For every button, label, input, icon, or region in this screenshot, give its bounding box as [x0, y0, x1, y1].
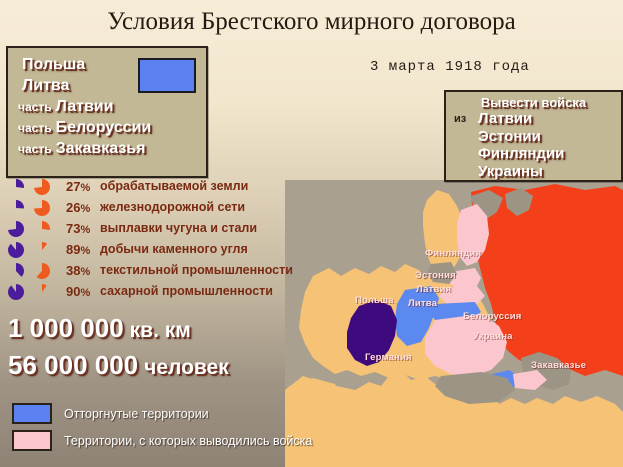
- loss-pie-pair: [8, 283, 60, 301]
- total-row: 56 000 000человек: [8, 349, 229, 386]
- loss-label: текстильной промышленности: [100, 260, 293, 281]
- ceded-row: Польша: [18, 54, 151, 75]
- withdraw-country: Латвии: [478, 110, 564, 128]
- percent-sign: %: [80, 266, 90, 278]
- loss-percent-value: 90: [66, 284, 80, 299]
- map-landmass-svg: [285, 180, 623, 467]
- loss-percent-value: 26: [66, 200, 80, 215]
- loss-row: 38% текстильной промышленности: [0, 260, 295, 281]
- loss-row: 26% железнодорожной сети: [0, 197, 295, 218]
- loss-row: 90% сахарной промышленности: [0, 281, 295, 302]
- legend-row: Территории, с которых выводились войска: [12, 427, 312, 454]
- treaty-date: 3 марта 1918 года: [370, 59, 530, 75]
- ceded-name: Закавказья: [56, 140, 146, 157]
- loss-percent: 90%: [66, 281, 90, 304]
- map-label-estoniya: Эстония: [415, 270, 456, 281]
- withdraw-country: Эстонии: [478, 128, 564, 146]
- total-number: 56 000 000: [8, 350, 138, 380]
- percent-sign: %: [80, 203, 90, 215]
- loss-pie-pair: [8, 178, 60, 196]
- loss-percent: 89%: [66, 239, 90, 262]
- infographic-stage: Финляндия Эстония Латвия Литва Польша Ге…: [0, 0, 623, 467]
- ceded-name: Латвии: [56, 98, 114, 115]
- ceded-name: Литва: [22, 77, 69, 94]
- europe-map: Финляндия Эстония Латвия Литва Польша Ге…: [285, 180, 623, 467]
- ceded-name: Белоруссии: [56, 119, 152, 136]
- map-label-zakavkazye: Закавказье: [531, 360, 586, 371]
- map-legend: Отторгнутые территории Территории, с кот…: [12, 400, 312, 454]
- loss-label: железнодорожной сети: [100, 197, 245, 218]
- withdraw-troops-box: Вывести войска из Латвии Эстонии Финлянд…: [444, 90, 623, 182]
- map-label-litva: Литва: [408, 298, 437, 309]
- percent-sign: %: [80, 224, 90, 236]
- map-label-ukraina: Украина: [473, 331, 513, 342]
- loss-label: выплавки чугуна и стали: [100, 218, 257, 239]
- withdraw-country: Украины: [478, 163, 564, 181]
- withdraw-from-label: из: [454, 113, 466, 125]
- loss-row: 27% обрабатываемой земли: [0, 176, 295, 197]
- withdraw-country-list: Латвии Эстонии Финляндии Украины: [478, 110, 564, 180]
- ceded-row: частьБелоруссии: [18, 117, 151, 138]
- loss-pie-pair: [8, 220, 60, 238]
- map-label-latviya: Латвия: [416, 284, 451, 295]
- withdraw-country: Финляндии: [478, 145, 564, 163]
- loss-percent-value: 38: [66, 263, 80, 278]
- ceded-territories-box: Польша Литва частьЛатвии частьБелоруссии…: [6, 46, 208, 178]
- legend-label: Отторгнутые территории: [64, 407, 209, 421]
- loss-label: добычи каменного угля: [100, 239, 248, 260]
- ceded-row: частьЛатвии: [18, 96, 151, 117]
- loss-percent-value: 27: [66, 179, 80, 194]
- belarus-ukraine-territory: [425, 314, 507, 376]
- loss-pie-pair: [8, 241, 60, 259]
- ceded-row: частьЗакавказья: [18, 138, 151, 159]
- total-number: 1 000 000: [8, 313, 124, 343]
- page-title: Условия Брестского мирного договора: [0, 8, 623, 36]
- loss-pie-pair: [8, 262, 60, 280]
- ceded-prefix: часть: [18, 121, 52, 135]
- legend-swatch-withdrawn: [12, 430, 52, 451]
- map-label-germaniya: Германия: [365, 352, 412, 363]
- percent-sign: %: [80, 245, 90, 257]
- ceded-territories-list: Польша Литва частьЛатвии частьБелоруссии…: [18, 54, 151, 159]
- map-label-finlyandiya: Финляндия: [425, 248, 481, 259]
- loss-pie-pair: [8, 199, 60, 217]
- percent-sign: %: [80, 287, 90, 299]
- map-label-polsha: Польша: [355, 295, 394, 306]
- total-unit: кв. км: [130, 319, 191, 342]
- legend-label: Территории, с которых выводились войска: [64, 434, 312, 448]
- loss-percent: 27%: [66, 176, 90, 199]
- total-row: 1 000 000кв. км: [8, 312, 229, 349]
- ceded-color-swatch: [138, 58, 196, 93]
- loss-percent: 73%: [66, 218, 90, 241]
- map-label-belorussiya: Белоруссия: [463, 311, 522, 322]
- loss-row: 89% добычи каменного угля: [0, 239, 295, 260]
- ceded-row: Литва: [18, 75, 151, 96]
- legend-swatch-ceded: [12, 403, 52, 424]
- loss-percent-value: 73: [66, 221, 80, 236]
- total-unit: человек: [144, 356, 229, 379]
- percent-sign: %: [80, 182, 90, 194]
- ceded-name: Польша: [22, 56, 85, 73]
- totals-block: 1 000 000кв. км 56 000 000человек: [8, 312, 229, 386]
- losses-percent-panel: 27% обрабатываемой земли 26% железнодоро…: [0, 176, 295, 304]
- ceded-prefix: часть: [18, 100, 52, 114]
- ceded-prefix: часть: [18, 142, 52, 156]
- loss-label: обрабатываемой земли: [100, 176, 248, 197]
- loss-percent: 38%: [66, 260, 90, 283]
- loss-label: сахарной промышленности: [100, 281, 273, 302]
- withdraw-heading: Вывести войска: [446, 95, 621, 110]
- legend-row: Отторгнутые территории: [12, 400, 312, 427]
- loss-row: 73% выплавки чугуна и стали: [0, 218, 295, 239]
- loss-percent: 26%: [66, 197, 90, 220]
- loss-percent-value: 89: [66, 242, 80, 257]
